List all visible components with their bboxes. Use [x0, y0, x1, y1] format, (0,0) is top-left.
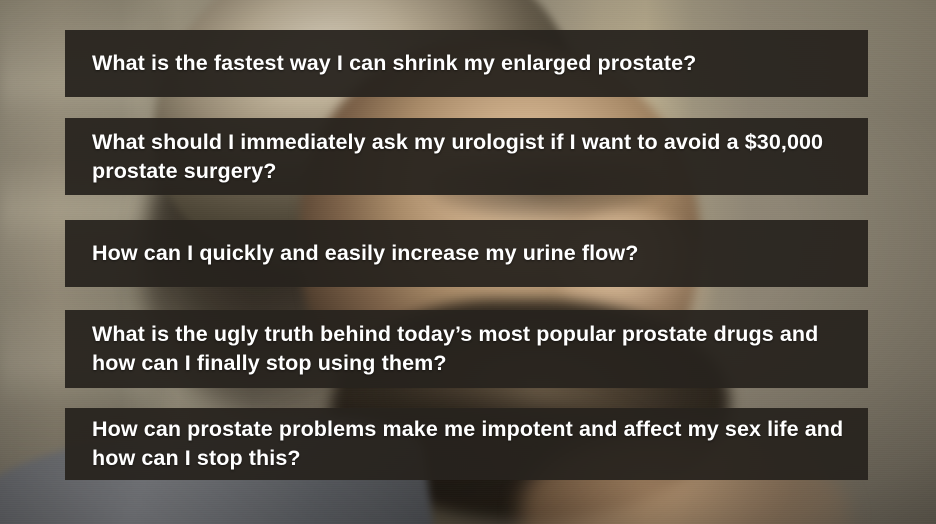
caption-list: What is the fastest way I can shrink my … — [0, 0, 936, 524]
caption-line: How can prostate problems make me impote… — [92, 415, 868, 444]
caption-question-3: How can I quickly and easily increase my… — [65, 220, 868, 287]
slide-frame: What is the fastest way I can shrink my … — [0, 0, 936, 524]
caption-question-5: How can prostate problems make me impote… — [65, 408, 868, 480]
caption-line: What is the ugly truth behind today’s mo… — [92, 320, 868, 349]
caption-line: how can I stop this? — [92, 444, 868, 473]
caption-line: How can I quickly and easily increase my… — [92, 239, 868, 268]
caption-line: prostate surgery? — [92, 157, 868, 186]
caption-line: What is the fastest way I can shrink my … — [92, 49, 868, 78]
caption-line: how can I finally stop using them? — [92, 349, 868, 378]
caption-question-2: What should I immediately ask my urologi… — [65, 118, 868, 195]
caption-question-4: What is the ugly truth behind today’s mo… — [65, 310, 868, 388]
caption-line: What should I immediately ask my urologi… — [92, 128, 868, 157]
caption-question-1: What is the fastest way I can shrink my … — [65, 30, 868, 97]
